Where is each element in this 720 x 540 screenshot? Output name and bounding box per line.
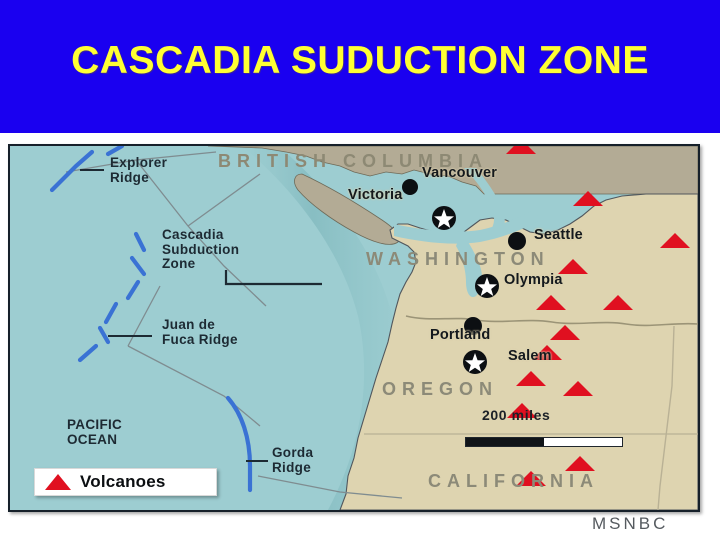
capital-star-victoria xyxy=(432,206,456,230)
city-dot-portland xyxy=(464,317,482,335)
city-dot-vancouver xyxy=(402,179,418,195)
page-title: CASCADIA SUDUCTION ZONE xyxy=(0,38,720,84)
legend-volcanoes: Volcanoes xyxy=(34,468,217,496)
capital-star-olympia xyxy=(475,274,499,298)
scale-bar xyxy=(465,437,623,447)
map-graphic xyxy=(10,146,698,510)
city-dot-seattle xyxy=(508,232,526,250)
scale-bar-fill xyxy=(466,438,544,446)
title-banner: CASCADIA SUDUCTION ZONE xyxy=(0,0,720,133)
volcano-triangle-icon xyxy=(45,474,71,490)
source-credit: MSNBC xyxy=(592,514,668,534)
map-figure: Explorer Ridge Cascadia Subduction Zone … xyxy=(8,144,700,512)
legend-label: Volcanoes xyxy=(80,472,166,492)
capital-star-salem xyxy=(463,350,487,374)
slide-root: CASCADIA SUDUCTION ZONE xyxy=(0,0,720,540)
